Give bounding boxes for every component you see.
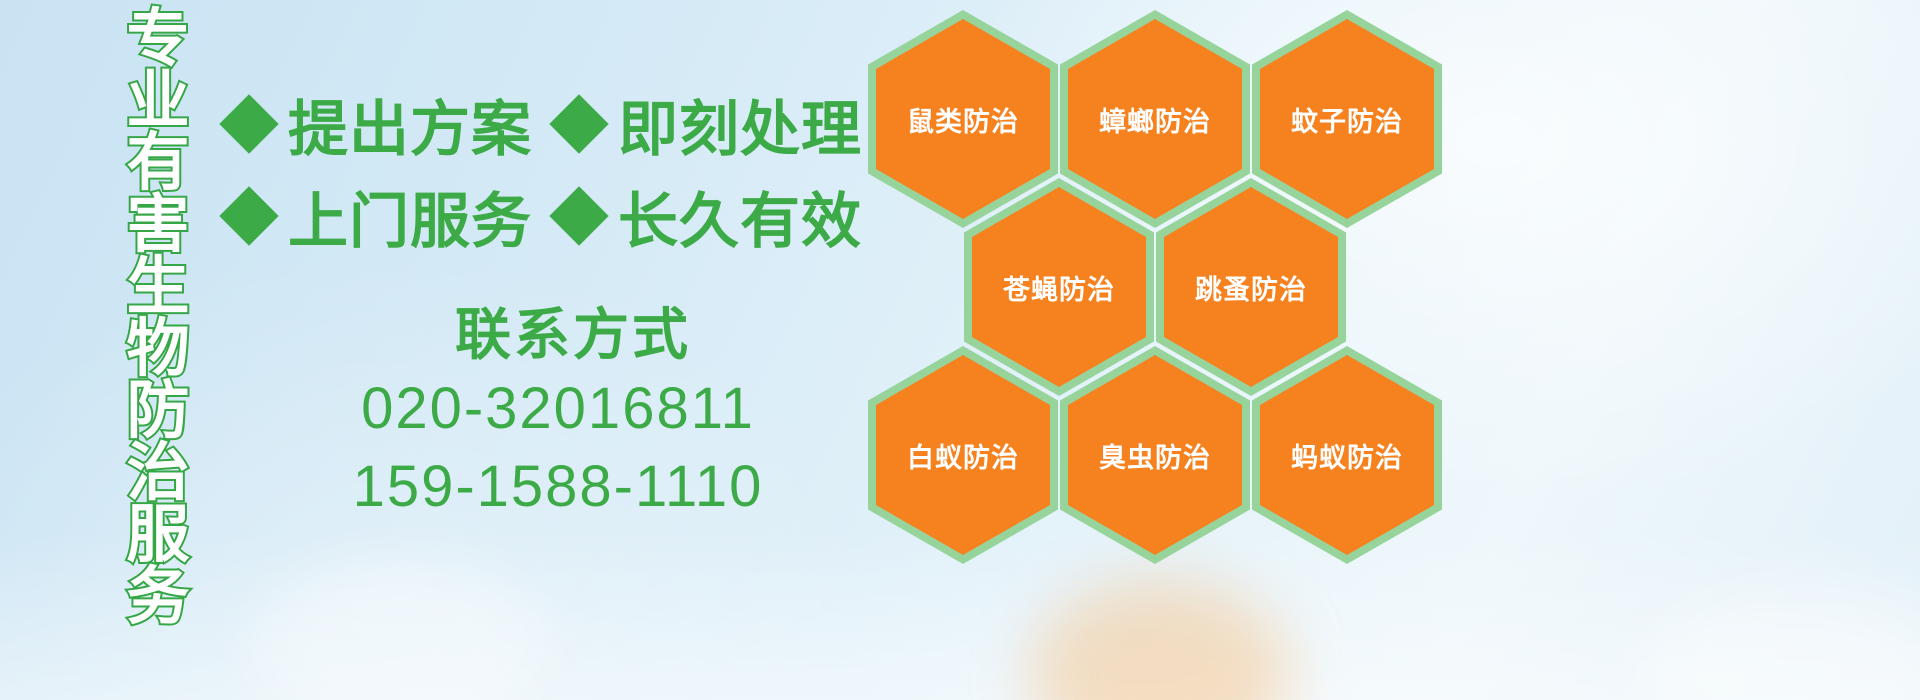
diamond-icon [549, 94, 608, 153]
vertical-title-char: 治 [127, 442, 190, 504]
diamond-icon [219, 186, 278, 245]
vertical-title-char: 防 [127, 380, 190, 442]
service-hexagon-grid: 鼠类防治 蟑螂防治 蚊子防治 苍蝇防治 跳蚤防治 白蚁防治 [862, 0, 1462, 700]
feature-row: 上门服务 长久有效 [228, 170, 878, 262]
service-label: 臭虫防治 [1099, 436, 1211, 475]
hex-inner: 苍蝇防治 [972, 187, 1146, 387]
diamond-icon [549, 186, 608, 245]
feature-label: 上门服务 [288, 173, 532, 260]
hex-inner: 白蚁防治 [876, 355, 1050, 555]
hex-inner: 臭虫防治 [1068, 355, 1242, 555]
background-glow-right [1640, 590, 1920, 700]
service-label: 鼠类防治 [907, 100, 1019, 139]
promo-banner: 专 业 有 害 生 物 防 治 服 务 提出方案 即刻处理 上门服务 长久有效 … [0, 0, 1920, 700]
service-label: 苍蝇防治 [1003, 268, 1115, 307]
vertical-title-char: 害 [127, 194, 190, 256]
feature-label: 即刻处理 [618, 81, 862, 168]
vertical-title-char: 业 [127, 70, 190, 132]
hex-inner: 蚂蚁防治 [1260, 355, 1434, 555]
service-label: 跳蚤防治 [1195, 268, 1307, 307]
hex-inner: 鼠类防治 [876, 19, 1050, 219]
hex-inner: 跳蚤防治 [1164, 187, 1338, 387]
service-label: 蚂蚁防治 [1291, 436, 1403, 475]
hex-inner: 蟑螂防治 [1068, 19, 1242, 219]
phone-number-mobile[interactable]: 159-1588-1110 [228, 448, 888, 526]
contact-heading: 联系方式 [228, 300, 888, 370]
diamond-icon [219, 94, 278, 153]
feature-row: 提出方案 即刻处理 [228, 78, 878, 170]
vertical-title-char: 务 [127, 566, 190, 628]
contact-block: 联系方式 020-32016811 159-1588-1110 [228, 300, 888, 526]
vertical-title-char: 有 [127, 132, 190, 194]
feature-label: 提出方案 [288, 81, 532, 168]
vertical-title-char: 物 [127, 318, 190, 380]
vertical-title: 专 业 有 害 生 物 防 治 服 务 [112, 8, 204, 568]
phone-number-landline[interactable]: 020-32016811 [228, 370, 888, 448]
background-glow-left [250, 560, 550, 700]
vertical-title-char: 专 [127, 8, 190, 70]
feature-list: 提出方案 即刻处理 上门服务 长久有效 [228, 78, 878, 262]
hex-inner: 蚊子防治 [1260, 19, 1434, 219]
service-label: 蟑螂防治 [1099, 100, 1211, 139]
service-label: 白蚁防治 [907, 436, 1019, 475]
vertical-title-char: 服 [127, 504, 190, 566]
service-label: 蚊子防治 [1291, 100, 1403, 139]
vertical-title-char: 生 [127, 256, 190, 318]
feature-label: 长久有效 [618, 173, 862, 260]
